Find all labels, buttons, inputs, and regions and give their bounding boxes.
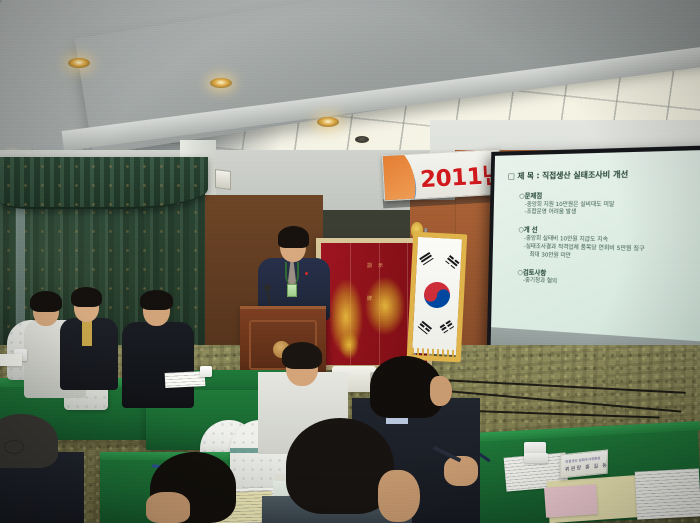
- attendee-hand: [444, 456, 478, 486]
- necktie: [82, 320, 92, 346]
- downlight-icon: [317, 117, 339, 127]
- projection-screen: □ 제 목 : 직접생산 실태조사비 개선 ○문제점 -중앙회 지원 10만원은…: [487, 145, 700, 370]
- attendee-ear-face: [430, 376, 452, 406]
- attendee-hair: [30, 291, 62, 312]
- attendee-face-partial: [146, 492, 190, 523]
- conference-room-photo: 2011년도 □ 제 목 : 직접생산 실태조사비 개선 ○문제점 -중앙회 지…: [0, 0, 700, 523]
- curtain-valance-pattern: [0, 157, 208, 209]
- colored-sheet: [544, 484, 598, 518]
- document-paper: [635, 468, 700, 519]
- gold-embroidery: [365, 277, 405, 335]
- presenter-hair: [278, 226, 309, 248]
- folding-screen-character: 牌: [367, 295, 372, 302]
- projection-screen-surface: □ 제 목 : 직접생산 실태조사비 개선 ○문제점 -중앙회 지원 10만원은…: [491, 150, 700, 366]
- gold-embroidery: [339, 331, 359, 359]
- table-nameplate: 직접생산 실태조사위원회 위원장 홍 길 동: [560, 449, 608, 478]
- presenter-lanyard: [285, 262, 299, 284]
- slide-bullet: -조합운영 어려움 발생: [525, 210, 700, 219]
- attendee-jacket: [122, 322, 194, 408]
- document-paper: [0, 354, 22, 366]
- wall-speaker-icon: [215, 169, 231, 190]
- lapel-pin-icon: [305, 272, 308, 275]
- slide-section: ○개 선 -중앙회 실태비 10만원 지급도 지속 -실태조사결과 적격업체 품…: [518, 225, 700, 265]
- eyeglasses-icon: [4, 440, 24, 454]
- slide-title: □ 제 목 : 직접생산 실태조사비 개선: [508, 167, 700, 182]
- attendee-hair: [282, 342, 322, 369]
- korean-flag: [412, 237, 462, 355]
- attendee-hair: [71, 287, 102, 307]
- downlight-icon: [355, 136, 369, 143]
- presenter-name-badge: [287, 284, 297, 297]
- downlight-icon: [68, 58, 90, 68]
- paper-cup: [200, 366, 212, 377]
- folding-screen-character: 訓: [367, 262, 372, 269]
- folding-screen-character: 示: [378, 262, 383, 269]
- attendee-hair: [140, 290, 173, 310]
- slide-section: ○검토사항 -중기청과 협의: [517, 267, 699, 294]
- banner-orange-swoosh: [382, 149, 420, 202]
- downlight-icon: [210, 78, 232, 88]
- slide-section: ○문제점 -중앙회 지원 10만원은 실비대도 미달 -조합운영 어려움 발생: [519, 189, 700, 219]
- event-banner: 2011년도: [382, 149, 502, 202]
- tissue-box: [524, 453, 548, 463]
- attendee-face-partial: [378, 470, 420, 522]
- bottle-cap: [275, 474, 286, 481]
- microphone-icon: [264, 284, 271, 291]
- slide-section-heading: ○문제점: [519, 189, 700, 200]
